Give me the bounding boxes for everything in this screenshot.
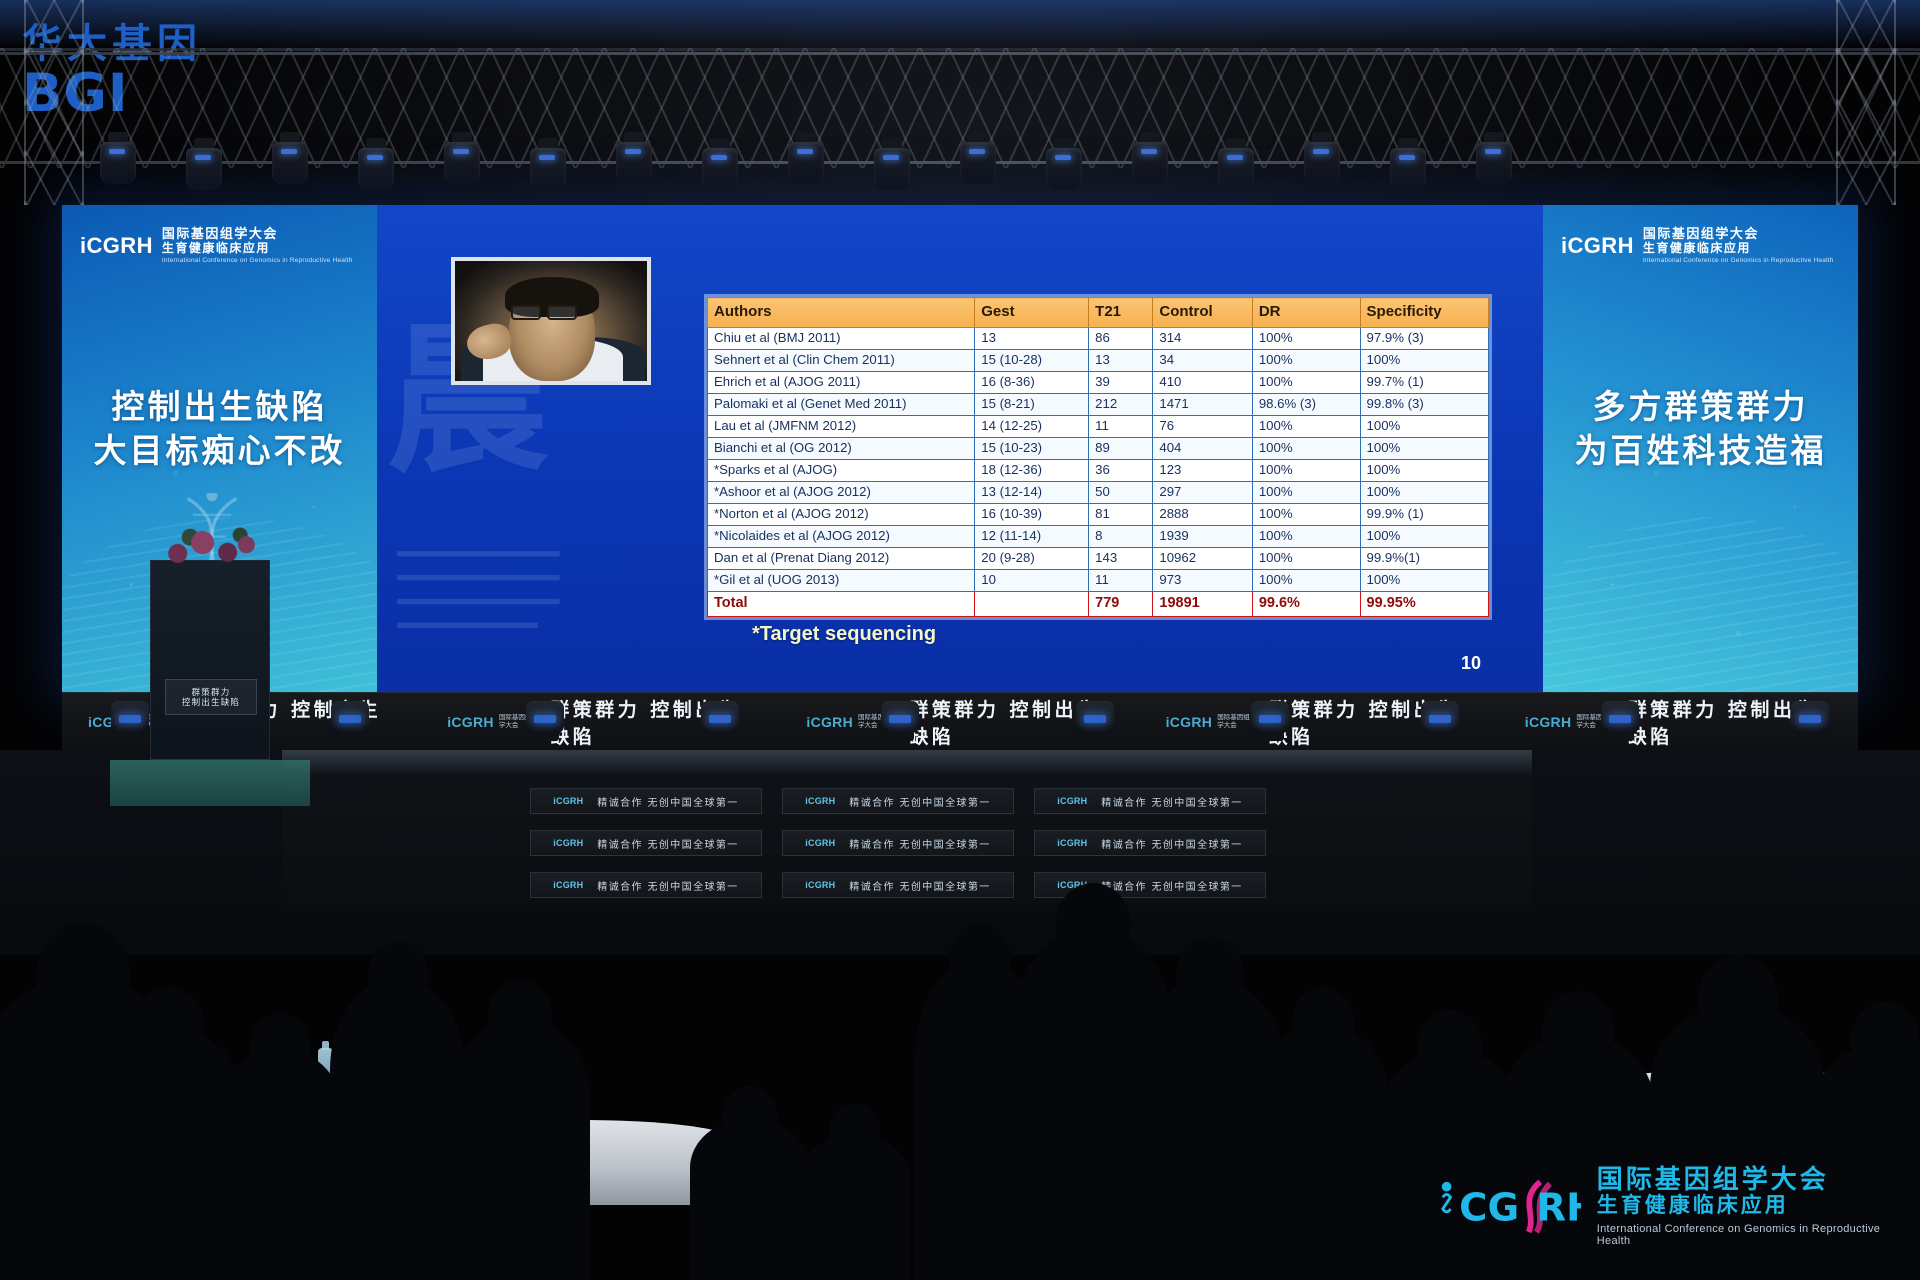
- table-row: *Sparks et al (AJOG)18 (12-36)36123100%1…: [708, 460, 1489, 482]
- table-cell-t21: 50: [1089, 482, 1153, 504]
- audience-head: [1851, 1002, 1920, 1079]
- table-cell-ctrl: 410: [1153, 372, 1252, 394]
- table-cell-ctrl: 314: [1153, 328, 1252, 350]
- right-slogan-line1: 多方群策群力: [1543, 385, 1858, 429]
- table-body: Chiu et al (BMJ 2011)1386314100%97.9% (3…: [708, 328, 1489, 617]
- table-cell-t21: 13: [1089, 350, 1153, 372]
- audience-head: [1176, 937, 1245, 1014]
- stage-floor-light: [1250, 695, 1290, 741]
- right-slogan-line2: 为百姓科技造福: [1543, 429, 1858, 473]
- total-cell-dr: 99.6%: [1252, 592, 1360, 617]
- table-cell-dr: 100%: [1252, 504, 1360, 526]
- stage-floor-light: [880, 695, 920, 741]
- audience-silhouette: [1380, 1050, 1520, 1280]
- floor-light-base: [1256, 731, 1284, 741]
- stage-floor-light: [700, 695, 740, 741]
- overhead-moving-light: [786, 132, 826, 188]
- audience-silhouette: [215, 1050, 345, 1280]
- col-header-gest: Gest: [975, 298, 1089, 328]
- light-led: [1485, 149, 1501, 154]
- table-cell-ctrl: 1939: [1153, 526, 1252, 548]
- banner-icgrh-mark: iCGRH: [806, 714, 853, 730]
- table-cell-dr: 100%: [1252, 570, 1360, 592]
- floor-light-led: [119, 715, 141, 723]
- table-cell-ctrl: 1471: [1153, 394, 1252, 416]
- audience-silhouette: [1500, 1035, 1655, 1280]
- table-cell-dr: 100%: [1252, 526, 1360, 548]
- icgrh-cn-line1: 国际基因组学大会: [162, 227, 353, 242]
- icgrh-cn-line2: 生育健康临床应用: [1643, 242, 1834, 255]
- stage-edge: [282, 750, 1532, 774]
- table-cell-t21: 8: [1089, 526, 1153, 548]
- floor-light-led: [1429, 715, 1451, 723]
- light-led: [539, 155, 555, 160]
- table-cell-gest: 18 (12-36): [975, 460, 1089, 482]
- table-cell-spec: 100%: [1360, 438, 1488, 460]
- floor-light-base: [1081, 731, 1109, 741]
- audience-head: [367, 942, 429, 1011]
- table-row: *Nicolaides et al (AJOG 2012)12 (11-14)8…: [708, 526, 1489, 548]
- left-slogan-line1: 控制出生缺陷: [62, 385, 377, 429]
- table-cell-gest: 13 (12-14): [975, 482, 1089, 504]
- floor-light-led: [1259, 715, 1281, 723]
- floor-light-led: [534, 715, 556, 723]
- overhead-moving-light: [872, 138, 912, 194]
- table-cell-t21: 36: [1089, 460, 1153, 482]
- icgrh-wordmark: iCGRH: [80, 233, 153, 259]
- banner-icgrh-mark: iCGRH: [1525, 714, 1572, 730]
- table-cell-auth: Sehnert et al (Clin Chem 2011): [708, 350, 975, 372]
- floor-light-base: [116, 731, 144, 741]
- table-header-row: Authors Gest T21 Control DR Specificity: [708, 298, 1489, 328]
- light-led: [109, 149, 125, 154]
- total-cell-auth: Total: [708, 592, 975, 617]
- presentation-slide: 晨 Authors G: [377, 205, 1543, 692]
- total-cell-spec: 99.95%: [1360, 592, 1488, 617]
- audience-head: [1697, 955, 1778, 1046]
- overhead-moving-light: [1130, 132, 1170, 188]
- light-led: [367, 155, 383, 160]
- slide-footnote: *Target sequencing: [752, 623, 936, 646]
- table-cell-spec: 100%: [1360, 482, 1488, 504]
- audience-head: [950, 923, 1010, 990]
- overhead-moving-light: [614, 132, 654, 188]
- light-led: [1227, 155, 1243, 160]
- banner-icgrh-logo: iCGRH国际基因组学大会: [1166, 714, 1256, 730]
- stage-floor-light: [1420, 695, 1460, 741]
- stage-floor-light: [1790, 695, 1830, 741]
- audience-head: [36, 922, 130, 1027]
- stage-floor-light: [110, 695, 150, 741]
- floor-light-base: [531, 731, 559, 741]
- table-row: Chiu et al (BMJ 2011)1386314100%97.9% (3…: [708, 328, 1489, 350]
- table-cell-t21: 89: [1089, 438, 1153, 460]
- icgrh-en-line: International Conference on Genomics in …: [1643, 257, 1834, 264]
- table-cell-spec: 99.7% (1): [1360, 372, 1488, 394]
- floor-light-led: [1609, 715, 1631, 723]
- audience-head: [1055, 883, 1131, 968]
- audience-head: [488, 980, 552, 1052]
- audience-silhouette: [1650, 1005, 1825, 1280]
- floor-light-led: [339, 715, 361, 723]
- table-cell-gest: 13: [975, 328, 1089, 350]
- table-row: *Ashoor et al (AJOG 2012)13 (12-14)50297…: [708, 482, 1489, 504]
- light-led: [1055, 155, 1071, 160]
- table-cell-auth: Lau et al (JMFNM 2012): [708, 416, 975, 438]
- table-cell-dr: 98.6% (3): [1252, 394, 1360, 416]
- overhead-moving-light: [356, 138, 396, 194]
- table-cell-t21: 39: [1089, 372, 1153, 394]
- table-cell-ctrl: 123: [1153, 460, 1252, 482]
- floor-light-led: [1799, 715, 1821, 723]
- floor-light-base: [1426, 731, 1454, 741]
- overhead-moving-light: [528, 138, 568, 194]
- col-header-t21: T21: [1089, 298, 1153, 328]
- table-cell-ctrl: 10962: [1153, 548, 1252, 570]
- podium-flowers: [159, 521, 263, 575]
- overhead-moving-light: [958, 132, 998, 188]
- icgrh-wordmark: iCGRH: [1561, 233, 1634, 259]
- light-led: [797, 149, 813, 154]
- stage-floor-light: [1600, 695, 1640, 741]
- table-cell-dr: 100%: [1252, 482, 1360, 504]
- overhead-moving-light: [1388, 138, 1428, 194]
- overhead-moving-light: [1216, 138, 1256, 194]
- light-led: [1141, 149, 1157, 154]
- light-led: [883, 155, 899, 160]
- table-row: Bianchi et al (OG 2012)15 (10-23)8940410…: [708, 438, 1489, 460]
- table-cell-spec: 100%: [1360, 416, 1488, 438]
- table-cell-spec: 100%: [1360, 460, 1488, 482]
- table-cell-auth: Dan et al (Prenat Diang 2012): [708, 548, 975, 570]
- left-panel-icgrh-logo: iCGRH 国际基因组学大会 生育健康临床应用 International Co…: [80, 227, 353, 264]
- table-cell-ctrl: 404: [1153, 438, 1252, 460]
- speaker-glasses-right: [547, 305, 577, 320]
- table-cell-dr: 100%: [1252, 416, 1360, 438]
- table-cell-t21: 143: [1089, 548, 1153, 570]
- table-cell-ctrl: 297: [1153, 482, 1252, 504]
- overhead-moving-light: [1474, 132, 1514, 188]
- table-cell-auth: Palomaki et al (Genet Med 2011): [708, 394, 975, 416]
- audience-head: [723, 1086, 778, 1148]
- total-cell-t21: 779: [1089, 592, 1153, 617]
- table-row: Sehnert et al (Clin Chem 2011)15 (10-28)…: [708, 350, 1489, 372]
- table-cell-t21: 11: [1089, 570, 1153, 592]
- table-cell-gest: 10: [975, 570, 1089, 592]
- stage-floor-light: [1075, 695, 1115, 741]
- table-cell-t21: 86: [1089, 328, 1153, 350]
- light-led: [1399, 155, 1415, 160]
- overhead-moving-light: [1044, 138, 1084, 194]
- table-cell-auth: *Sparks et al (AJOG): [708, 460, 975, 482]
- stage-floor-light: [330, 695, 370, 741]
- table-row: *Norton et al (AJOG 2012)16 (10-39)81288…: [708, 504, 1489, 526]
- audience-head: [1292, 987, 1354, 1056]
- table-cell-ctrl: 76: [1153, 416, 1252, 438]
- truss-column-left: [24, 0, 84, 205]
- table-cell-spec: 100%: [1360, 526, 1488, 548]
- audience-silhouette: [800, 1135, 910, 1280]
- audience-head: [1542, 991, 1613, 1071]
- col-header-specificity: Specificity: [1360, 298, 1488, 328]
- table-cell-dr: 100%: [1252, 460, 1360, 482]
- stage-floor-light: [525, 695, 565, 741]
- podium-plate: 群策群力 控制出生缺陷: [165, 679, 257, 715]
- conference-stage-photo: 华大基因 BGI iCGRH 国际: [0, 0, 1920, 1280]
- table-cell-gest: 15 (10-23): [975, 438, 1089, 460]
- table-cell-gest: 15 (8-21): [975, 394, 1089, 416]
- floor-light-led: [1084, 715, 1106, 723]
- floor-light-base: [1796, 731, 1824, 741]
- table-cell-spec: 99.9% (1): [1360, 504, 1488, 526]
- col-header-control: Control: [1153, 298, 1252, 328]
- led-video-wall: iCGRH 国际基因组学大会 生育健康临床应用 International Co…: [62, 205, 1858, 692]
- light-led: [969, 149, 985, 154]
- audience-silhouette: [330, 980, 465, 1280]
- floor-light-base: [706, 731, 734, 741]
- table-header: Authors Gest T21 Control DR Specificity: [708, 298, 1489, 328]
- overhead-moving-light: [270, 132, 310, 188]
- table-cell-spec: 97.9% (3): [1360, 328, 1488, 350]
- table-cell-auth: *Gil et al (UOG 2013): [708, 570, 975, 592]
- table-cell-spec: 99.9%(1): [1360, 548, 1488, 570]
- table-cell-gest: 20 (9-28): [975, 548, 1089, 570]
- audience-silhouette: [1255, 1025, 1390, 1280]
- total-cell-gest: [975, 592, 1089, 617]
- table-cell-gest: 15 (10-28): [975, 350, 1089, 372]
- table-row: *Gil et al (UOG 2013)1011973100%100%: [708, 570, 1489, 592]
- audience-head: [136, 987, 205, 1064]
- audience-silhouette: [1810, 1045, 1920, 1280]
- floor-light-base: [336, 731, 364, 741]
- light-led: [281, 149, 297, 154]
- table-cell-dr: 100%: [1252, 372, 1360, 394]
- table-row: Ehrich et al (AJOG 2011)16 (8-36)3941010…: [708, 372, 1489, 394]
- table-cell-dr: 100%: [1252, 328, 1360, 350]
- light-led: [711, 155, 727, 160]
- table-cell-auth: Ehrich et al (AJOG 2011): [708, 372, 975, 394]
- table-cell-auth: *Nicolaides et al (AJOG 2012): [708, 526, 975, 548]
- floor-light-led: [709, 715, 731, 723]
- speaker-video-thumbnail: [451, 257, 651, 385]
- table-cell-auth: Bianchi et al (OG 2012): [708, 438, 975, 460]
- table-cell-gest: 16 (8-36): [975, 372, 1089, 394]
- light-led: [195, 155, 211, 160]
- overhead-moving-light: [700, 138, 740, 194]
- floor-light-base: [1606, 731, 1634, 741]
- table-cell-ctrl: 34: [1153, 350, 1252, 372]
- light-led: [1313, 149, 1329, 154]
- left-slogan-line2: 大目标痴心不改: [62, 429, 377, 473]
- audience-silhouette: [690, 1120, 810, 1280]
- overhead-moving-light: [442, 132, 482, 188]
- right-banner-panel: iCGRH 国际基因组学大会 生育健康临床应用 International Co…: [1543, 205, 1858, 692]
- icgrh-cn-line2: 生育健康临床应用: [162, 242, 353, 255]
- table-cell-dr: 100%: [1252, 548, 1360, 570]
- podium-plate-line2: 控制出生缺陷: [182, 697, 240, 707]
- table-cell-auth: *Ashoor et al (AJOG 2012): [708, 482, 975, 504]
- table-cell-gest: 12 (11-14): [975, 526, 1089, 548]
- icgrh-en-line: International Conference on Genomics in …: [162, 257, 353, 264]
- icgrh-chinese-block: 国际基因组学大会 生育健康临床应用 International Conferen…: [1643, 227, 1834, 264]
- audience-head: [250, 1013, 310, 1080]
- left-panel-slogan: 控制出生缺陷 大目标痴心不改: [62, 385, 377, 473]
- audience-head: [830, 1103, 881, 1160]
- overhead-moving-light: [1302, 132, 1342, 188]
- icgrh-cn-line1: 国际基因组学大会: [1643, 227, 1834, 242]
- podium-plate-line1: 群策群力: [192, 687, 231, 697]
- table-row: Dan et al (Prenat Diang 2012)20 (9-28)14…: [708, 548, 1489, 570]
- table-cell-auth: *Norton et al (AJOG 2012): [708, 504, 975, 526]
- audience-head: [1418, 1010, 1482, 1082]
- table-cell-ctrl: 2888: [1153, 504, 1252, 526]
- banner-icgrh-mark: iCGRH: [1166, 714, 1213, 730]
- overhead-moving-light: [184, 138, 224, 194]
- floor-light-base: [886, 731, 914, 741]
- table-row: Lau et al (JMFNM 2012)14 (12-25)1176100%…: [708, 416, 1489, 438]
- table-total-row: Total7791989199.6%99.95%: [708, 592, 1489, 617]
- floor-light-led: [889, 715, 911, 723]
- speaker-glasses-left: [511, 305, 541, 320]
- table-cell-auth: Chiu et al (BMJ 2011): [708, 328, 975, 350]
- truss-column-right: [1836, 0, 1896, 205]
- light-led: [453, 149, 469, 154]
- nipt-studies-table: Authors Gest T21 Control DR Specificity …: [707, 297, 1489, 617]
- icgrh-chinese-block: 国际基因组学大会 生育健康临床应用 International Conferen…: [162, 227, 353, 264]
- right-panel-slogan: 多方群策群力 为百姓科技造福: [1543, 385, 1858, 473]
- right-panel-icgrh-logo: iCGRH 国际基因组学大会 生育健康临床应用 International Co…: [1561, 227, 1834, 264]
- ceiling-glow: [0, 0, 1920, 48]
- table-cell-t21: 81: [1089, 504, 1153, 526]
- table-cell-t21: 11: [1089, 416, 1153, 438]
- table-cell-gest: 16 (10-39): [975, 504, 1089, 526]
- banner-icgrh-mark: iCGRH: [447, 714, 494, 730]
- table-cell-gest: 14 (12-25): [975, 416, 1089, 438]
- audience-area: [0, 790, 1920, 1280]
- banner-icgrh-logo: iCGRH国际基因组学大会: [447, 714, 537, 730]
- col-header-authors: Authors: [708, 298, 975, 328]
- table-cell-spec: 100%: [1360, 350, 1488, 372]
- overhead-moving-light: [98, 132, 138, 188]
- total-cell-ctrl: 19891: [1153, 592, 1252, 617]
- table-cell-spec: 100%: [1360, 570, 1488, 592]
- table-cell-spec: 99.8% (3): [1360, 394, 1488, 416]
- slide-page-number: 10: [1461, 653, 1481, 674]
- light-led: [625, 149, 641, 154]
- audience-silhouette: [450, 1020, 590, 1280]
- table-cell-t21: 212: [1089, 394, 1153, 416]
- table-cell-ctrl: 973: [1153, 570, 1252, 592]
- table-row: Palomaki et al (Genet Med 2011)15 (8-21)…: [708, 394, 1489, 416]
- podium: 群策群力 控制出生缺陷: [150, 560, 270, 760]
- col-header-dr: DR: [1252, 298, 1360, 328]
- table-cell-dr: 100%: [1252, 350, 1360, 372]
- table-cell-dr: 100%: [1252, 438, 1360, 460]
